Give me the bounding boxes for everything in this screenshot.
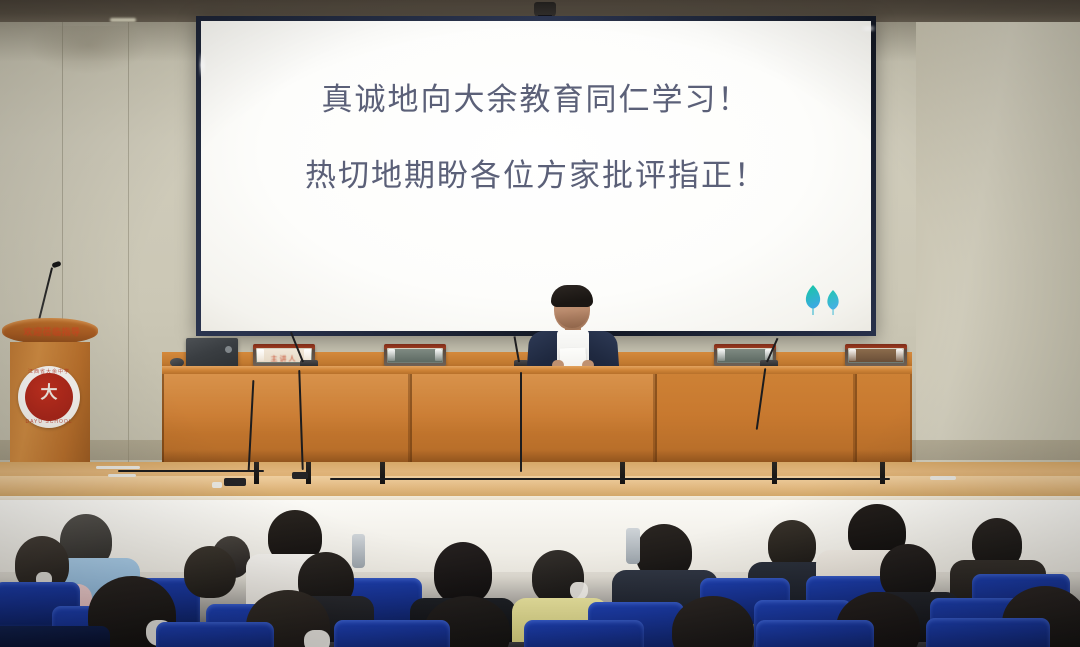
table-leg [380, 462, 385, 484]
head-table [162, 366, 912, 476]
power-adapter [292, 472, 308, 479]
wall-seam [128, 22, 129, 462]
audience-chair[interactable] [926, 618, 1050, 647]
name-plate-card [849, 349, 903, 362]
audience-chair[interactable] [756, 620, 874, 647]
name-plate[interactable] [384, 344, 446, 366]
table-leg [880, 462, 885, 484]
cable-white [96, 466, 140, 469]
plug [212, 482, 222, 488]
name-plate-glint [435, 349, 442, 361]
audience-chair[interactable] [524, 620, 644, 647]
table-leg [620, 462, 625, 484]
laptop[interactable] [186, 338, 238, 368]
projection-screen[interactable]: 真诚地向大余教育同仁学习！ 热切地期盼各位方家批评指正！ [201, 21, 871, 331]
crest-inner-disc: 大 [25, 373, 73, 421]
speaker [524, 288, 620, 372]
audience-chair[interactable] [334, 620, 450, 647]
slide-text-block: 真诚地向大余教育同仁学习！ 热切地期盼各位方家批评指正！ [201, 83, 871, 193]
audience-head [434, 542, 492, 604]
school-crest: 江西省大余中学 大 DAYU SCHOOL [18, 366, 80, 428]
slide-line-2: 热切地期盼各位方家批评指正！ [201, 159, 871, 193]
hp-logo-icon [225, 346, 232, 353]
audience-seating [0, 500, 1080, 647]
lectern[interactable]: 欢迎莅临指导 江西省大余中学 大 DAYU SCHOOL [0, 318, 100, 478]
audience-chair[interactable] [156, 622, 274, 647]
name-plate-glint [257, 349, 264, 361]
table-leg [254, 462, 259, 484]
name-plate-glint [849, 349, 856, 361]
table-leg [772, 462, 777, 484]
name-plate[interactable] [845, 344, 907, 366]
water-bottle [352, 534, 365, 568]
wall-stain [28, 26, 148, 74]
screen-frame-glint [200, 52, 205, 78]
cable [118, 470, 264, 472]
lectern-top-text: 欢迎莅临指导 [6, 325, 98, 338]
speaker-hair [551, 285, 593, 307]
teal-leaf-watermark-icon [797, 283, 849, 319]
slide-line-1: 真诚地向大余教育同仁学习！ [201, 83, 871, 117]
audience-head [184, 546, 236, 598]
lectern-top: 欢迎莅临指导 [2, 318, 98, 344]
cable [330, 478, 890, 480]
face-mask [304, 630, 330, 647]
audience-chair[interactable] [0, 626, 110, 647]
cable-white [108, 474, 136, 477]
power-adapter [224, 478, 246, 486]
crest-arc-bottom-text: DAYU SCHOOL [18, 419, 80, 425]
crest-glyph: 大 [25, 385, 73, 402]
screen-frame-glint [860, 26, 876, 31]
name-plate-card [388, 349, 442, 362]
cable-white [930, 476, 956, 480]
name-plate-glint [388, 349, 395, 361]
name-plate-glint [718, 349, 725, 361]
wall-right-panel [916, 22, 1080, 462]
water-bottle [626, 528, 640, 564]
conference-hall-scene: 真诚地向大余教育同仁学习！ 热切地期盼各位方家批评指正！ 欢迎莅临指导 [0, 0, 1080, 647]
name-plate-glint [896, 349, 903, 361]
cable [520, 372, 522, 472]
